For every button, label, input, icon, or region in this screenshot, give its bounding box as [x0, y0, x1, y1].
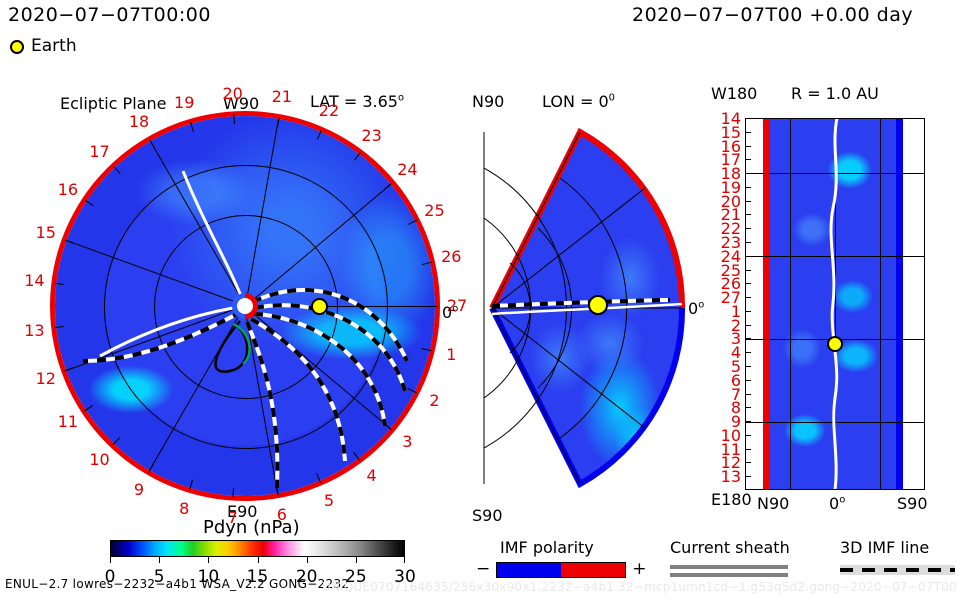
oneau-y-tick	[745, 118, 751, 119]
oneau-y-tick	[745, 380, 751, 381]
imf-polarity-bar	[496, 562, 626, 578]
oneau-y-tick	[745, 338, 751, 339]
meridional-north-label: N90	[472, 94, 504, 110]
ecliptic-carrington-label-26: 26	[441, 249, 461, 265]
imf-line-3d-title: 3D IMF line	[840, 540, 955, 556]
oneau-y-tick	[745, 173, 751, 174]
ecliptic-carrington-label-15: 15	[36, 225, 56, 241]
ecliptic-carrington-label-1: 1	[446, 347, 456, 363]
ecliptic-carrington-label-24: 24	[397, 162, 417, 178]
oneau-bottom-left-label: E180	[711, 492, 752, 508]
ecliptic-carrington-label-21: 21	[272, 89, 292, 105]
imf-plus-sign: +	[632, 561, 646, 578]
oneau-y-tick	[745, 421, 751, 422]
meridional-zero-label: 0o	[688, 301, 704, 317]
current-sheath-line-top	[670, 565, 788, 569]
oneau-y-tick	[745, 256, 751, 257]
oneau-y-tick	[745, 201, 751, 202]
legend-3d-imf-line: 3D IMF line	[840, 540, 955, 575]
meridional-zero-sup: o	[698, 300, 704, 311]
ecliptic-carrington-label-12: 12	[36, 371, 56, 387]
oneau-y-tick	[745, 311, 751, 312]
ecliptic-carrington-label-8: 8	[179, 501, 189, 517]
ecliptic-carrington-label-20: 20	[222, 86, 242, 102]
oneau-y-tick	[745, 476, 751, 477]
meridional-pdyn-heatmap[interactable]	[470, 108, 710, 508]
earth-marker-icon[interactable]	[311, 298, 328, 315]
colorbar-tick	[404, 557, 405, 563]
oneau-y-tick	[745, 325, 751, 326]
ecliptic-carrington-label-19: 19	[174, 95, 194, 111]
oneau-carrington-label-13: 13	[715, 469, 741, 485]
oneau-xtick-zero: 0o	[829, 496, 845, 512]
oneau-xtick-zero-value: 0	[829, 494, 839, 513]
panel-ecliptic-plane[interactable]: Ecliptic Plane W90 LAT = 3.65o E90	[30, 108, 450, 498]
watermark-footer: UNIQUE0707164635/256x30x90x1.2232−a4b1.3…	[322, 581, 960, 593]
meridional-title-text: LON = 0	[542, 92, 609, 111]
meridional-south-label: S90	[472, 508, 503, 524]
lat-degree-sup: o	[398, 93, 404, 104]
ecliptic-carrington-label-5: 5	[324, 493, 334, 509]
ecliptic-zero-value: 0	[442, 303, 452, 322]
oneau-y-tick	[745, 462, 751, 463]
colorbar-title: Pdyn (nPa)	[203, 519, 300, 537]
legend-current-sheath: Current sheath	[670, 540, 790, 577]
earth-marker-icon[interactable]	[827, 336, 843, 352]
oneau-y-tick	[745, 407, 751, 408]
colorbar-gradient	[110, 540, 405, 557]
earth-legend-label: Earth	[31, 38, 77, 55]
ecliptic-carrington-label-17: 17	[89, 144, 109, 160]
colorbar-tick	[159, 557, 160, 563]
panel-one-au-map[interactable]: W180 E180 R = 1.0 AU 1415161718192021222…	[745, 118, 925, 490]
oneau-frame	[745, 118, 925, 490]
meridional-title-sup: 0	[609, 93, 615, 104]
ecliptic-carrington-label-11: 11	[58, 414, 78, 430]
ecliptic-carrington-tick	[427, 306, 437, 307]
oneau-y-tick	[745, 366, 751, 367]
current-sheath-line-bottom	[670, 573, 788, 577]
oneau-y-tick	[745, 297, 751, 298]
oneau-y-tick	[745, 214, 751, 215]
oneau-y-tick	[745, 283, 751, 284]
ecliptic-carrington-label-22: 22	[319, 103, 339, 119]
oneau-xtick-s90: S90	[897, 496, 928, 512]
oneau-y-tick	[745, 435, 751, 436]
oneau-top-left-label: W180	[711, 86, 757, 102]
ecliptic-zero-label: 0o	[442, 305, 458, 321]
ecliptic-carrington-label-2: 2	[429, 393, 439, 409]
oneau-y-tick	[745, 270, 751, 271]
imf-polarity-title: IMF polarity	[500, 540, 647, 556]
current-sheath-sample	[670, 565, 790, 577]
ecliptic-carrington-label-16: 16	[58, 182, 78, 198]
oneau-y-tick	[745, 228, 751, 229]
oneau-xtick-zero-sup: o	[839, 495, 845, 506]
colorbar-tick	[258, 557, 259, 563]
ecliptic-carrington-label-3: 3	[402, 434, 412, 450]
ecliptic-carrington-label-18: 18	[129, 114, 149, 130]
panel-meridional[interactable]: N90 S90 LON = 00 0o	[470, 108, 710, 508]
oneau-y-tick	[745, 449, 751, 450]
ecliptic-zero-sup: o	[452, 304, 458, 315]
solar-wind-visualization: 2020−07−07T00:00 2020−07−07T00 +0.00 day…	[0, 0, 960, 600]
ecliptic-carrington-label-23: 23	[361, 128, 381, 144]
ecliptic-carrington-label-14: 14	[24, 273, 44, 289]
ecliptic-carrington-label-4: 4	[367, 468, 377, 484]
colorbar-tick	[208, 557, 209, 563]
ecliptic-carrington-label-13: 13	[24, 323, 44, 339]
oneau-y-tick	[745, 187, 751, 188]
earth-marker-icon	[589, 296, 607, 314]
sun-marker-icon	[232, 293, 258, 319]
imf-minus-sign: −	[476, 561, 490, 578]
colorbar-tick	[307, 557, 308, 563]
imf-polarity-scale: − +	[476, 561, 647, 578]
model-info-footer: ENUL−2.7 lowres−2232−a4b1 WSA_V2.2 GONG−…	[5, 578, 349, 590]
oneau-title: R = 1.0 AU	[791, 86, 879, 102]
meridional-zero-value: 0	[688, 299, 698, 318]
meridional-title: LON = 00	[542, 94, 615, 110]
oneau-y-tick	[745, 352, 751, 353]
oneau-y-tick	[745, 146, 751, 147]
ecliptic-pdyn-heatmap[interactable]	[55, 116, 435, 496]
timestamp-right: 2020−07−07T00 +0.00 day	[632, 6, 913, 25]
earth-legend: Earth	[10, 38, 77, 55]
ecliptic-carrington-label-10: 10	[89, 452, 109, 468]
timestamp-left: 2020−07−07T00:00	[8, 6, 211, 25]
oneau-y-tick	[745, 132, 751, 133]
legend-imf-polarity: IMF polarity − +	[500, 540, 647, 578]
colorbar-tick	[110, 557, 111, 563]
oneau-y-tick	[745, 242, 751, 243]
imf-line-3d-sample	[840, 565, 955, 575]
earth-dot-icon	[10, 40, 24, 54]
colorbar-tick	[356, 557, 357, 563]
ecliptic-carrington-label-9: 9	[134, 482, 144, 498]
oneau-xtick-n90: N90	[757, 496, 789, 512]
ecliptic-carrington-label-25: 25	[424, 203, 444, 219]
oneau-y-tick	[745, 159, 751, 160]
colorbar-ticks	[110, 557, 405, 567]
oneau-y-tick	[745, 394, 751, 395]
current-sheath-title: Current sheath	[670, 540, 790, 556]
ecliptic-title: Ecliptic Plane	[60, 96, 166, 112]
